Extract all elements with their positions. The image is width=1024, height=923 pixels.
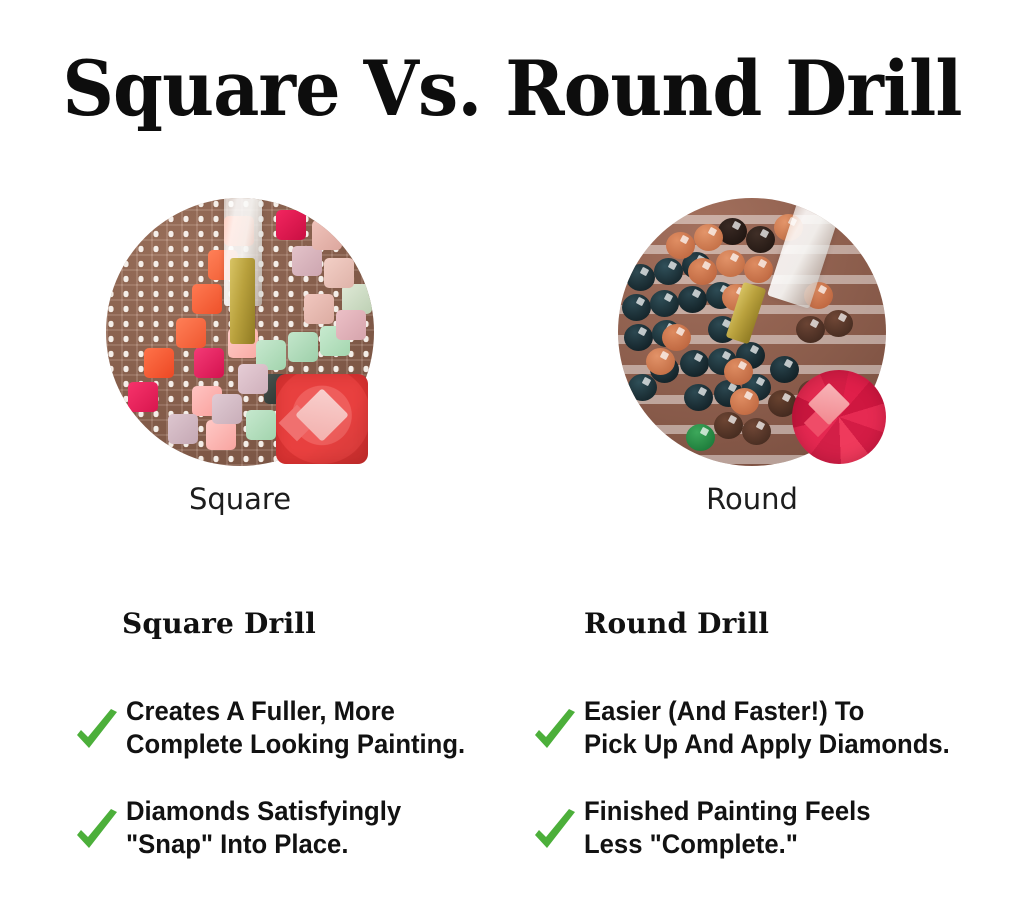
list-item-label: Finished Painting Feels Less "Complete." <box>584 795 870 861</box>
square-panel: Square <box>92 198 472 528</box>
round-photo-wrap <box>618 198 886 466</box>
list-item: Diamonds Satisfyingly "Snap" Into Place. <box>74 792 504 864</box>
round-gem-sample <box>792 370 886 464</box>
pen-wax-tip <box>230 258 255 344</box>
square-photo-wrap <box>106 198 374 466</box>
list-item: Creates A Fuller, More Complete Looking … <box>74 692 504 764</box>
check-icon <box>74 708 120 756</box>
list-item-label: Creates A Fuller, More Complete Looking … <box>126 695 465 761</box>
square-drill-benefits: Creates A Fuller, More Complete Looking … <box>74 692 504 892</box>
list-item: Finished Painting Feels Less "Complete." <box>532 792 1002 864</box>
page-title: Square Vs. Round Drill <box>31 46 994 132</box>
square-photo-caption: Square <box>92 482 388 516</box>
round-photo-caption: Round <box>604 482 900 516</box>
check-icon <box>532 708 578 756</box>
check-icon <box>74 808 120 856</box>
square-drill-heading: Square Drill <box>122 607 316 641</box>
square-gem-sample <box>276 374 368 464</box>
list-item-label: Diamonds Satisfyingly "Snap" Into Place. <box>126 795 401 861</box>
list-item-label: Easier (And Faster!) To Pick Up And Appl… <box>584 695 950 761</box>
infographic-page: Square Vs. Round Drill <box>0 0 1024 923</box>
round-drill-benefits: Easier (And Faster!) To Pick Up And Appl… <box>532 692 1002 892</box>
list-item: Easier (And Faster!) To Pick Up And Appl… <box>532 692 1002 764</box>
round-drill-heading: Round Drill <box>584 607 769 641</box>
check-icon <box>532 808 578 856</box>
round-panel: Round <box>604 198 984 528</box>
